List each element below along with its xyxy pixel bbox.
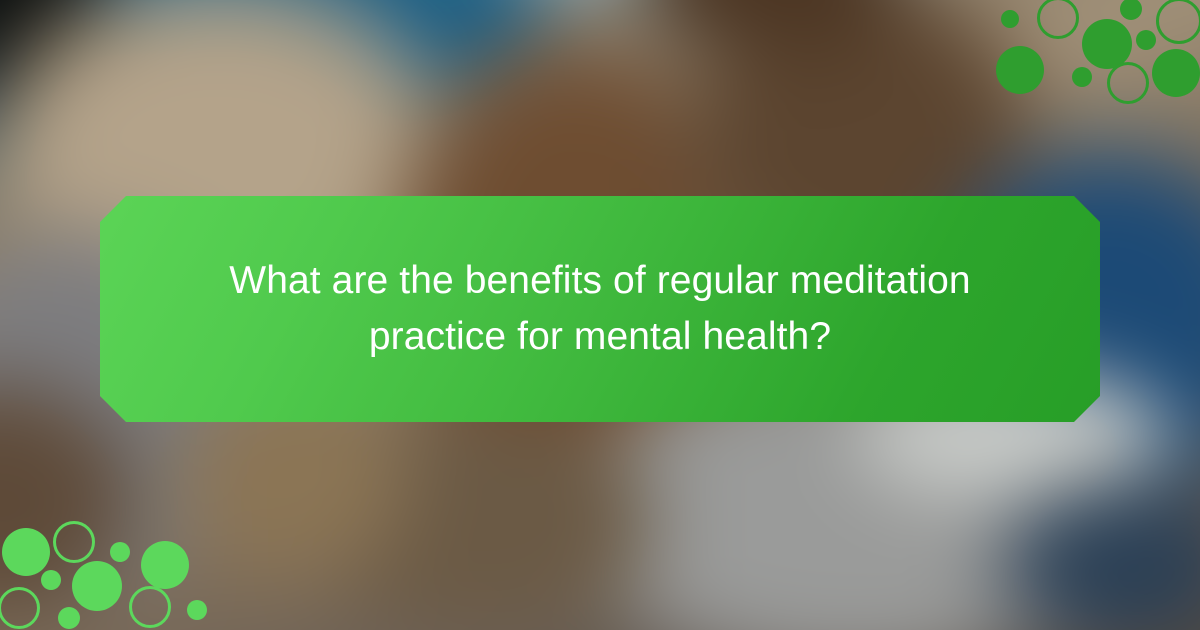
share-card-canvas: What are the benefits of regular meditat… xyxy=(0,0,1200,630)
question-card: What are the benefits of regular meditat… xyxy=(100,196,1100,422)
question-text: What are the benefits of regular meditat… xyxy=(170,253,1030,365)
